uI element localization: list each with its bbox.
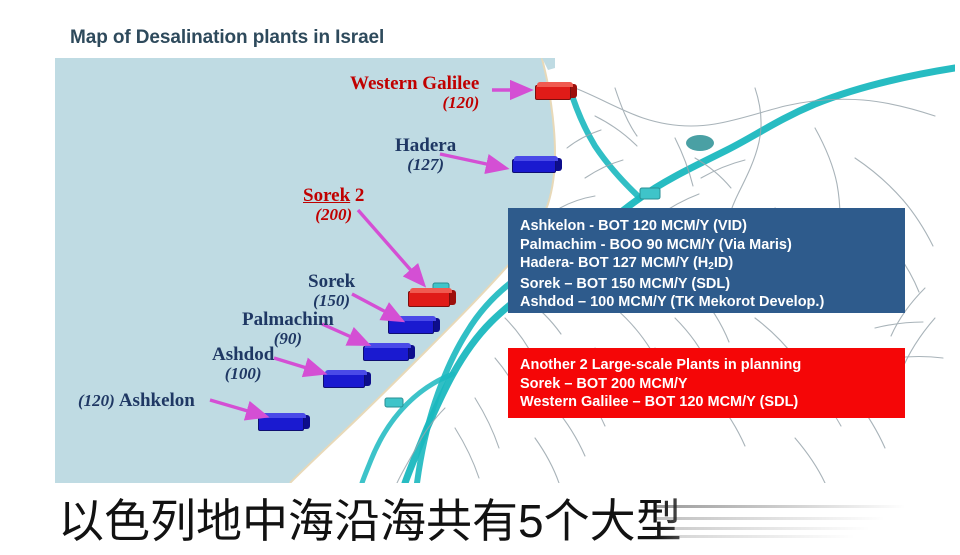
caption-text: 以色列地中海沿海共有5个大型 [58,485,682,551]
label-capacity: (120) [78,391,115,410]
hadera-pre: Hadera- BOT 127 MCM/Y (H [520,255,708,271]
arrow-ashkelon [210,400,265,416]
arrow-sorek-2 [358,210,423,284]
caption-smear-2 [655,517,885,520]
info-box-existing-plants: Ashkelon - BOT 120 MCM/Y (VID) Palmachim… [508,208,905,313]
label-name: Palmachim [242,309,334,330]
label-name-suffix: 2 [350,185,364,206]
label-name: Sorek [308,271,355,292]
info-line: Ashkelon - BOT 120 MCM/Y (VID) [520,217,905,236]
hadera-subscript: 2 [708,261,714,272]
label-capacity: (120) [350,94,479,112]
caption-smear-1 [655,505,905,508]
label-name: Ashdod [212,344,274,365]
info-box-planned-plants: Another 2 Large-scale Plants in planning… [508,348,905,418]
label-capacity: (150) [308,292,355,310]
map-label-ashkelon: (120) Ashkelon [78,391,195,411]
map-figure: Western Galilee (120) Hadera (127) Sorek… [55,58,955,483]
map-label-western-galilee: Western Galilee (120) [350,74,479,112]
info-line: Ashdod – 100 MCM/Y (TK Mekorot Develop.) [520,293,905,312]
label-name: Sorek 2 [303,185,364,206]
info-line: Another 2 Large-scale Plants in planning [520,356,905,375]
info-line-hadera: Hadera- BOT 127 MCM/Y (H2ID) [520,254,905,275]
map-label-sorek-2: Sorek 2 (200) [303,186,364,224]
label-capacity: (100) [212,365,274,383]
map-label-hadera: Hadera (127) [395,136,456,174]
info-line: Western Galilee – BOT 120 MCM/Y (SDL) [520,393,905,412]
arrow-sorek [352,294,401,320]
label-name: Western Galilee [350,73,479,94]
map-label-palmachim: Palmachim (90) [242,310,334,348]
label-name: Ashkelon [119,390,195,411]
hadera-post: ID) [714,255,733,271]
label-capacity: (127) [395,156,456,174]
caption-smear-3 [655,527,870,530]
caption-bar: 以色列地中海沿海共有5个大型 [0,483,960,555]
arrow-ashdod [274,358,323,373]
label-name: Hadera [395,135,456,156]
map-label-sorek: Sorek (150) [308,272,355,310]
label-capacity: (200) [303,206,364,224]
info-line: Sorek – BOT 150 MCM/Y (SDL) [520,275,905,294]
info-line: Palmachim - BOO 90 MCM/Y (Via Maris) [520,236,905,255]
map-label-ashdod: Ashdod (100) [212,345,274,383]
info-line: Sorek – BOT 200 MCM/Y [520,375,905,394]
caption-smear-4 [655,535,855,538]
label-name-underlined: Sorek [303,185,350,206]
page-title: Map of Desalination plants in Israel [70,27,384,49]
